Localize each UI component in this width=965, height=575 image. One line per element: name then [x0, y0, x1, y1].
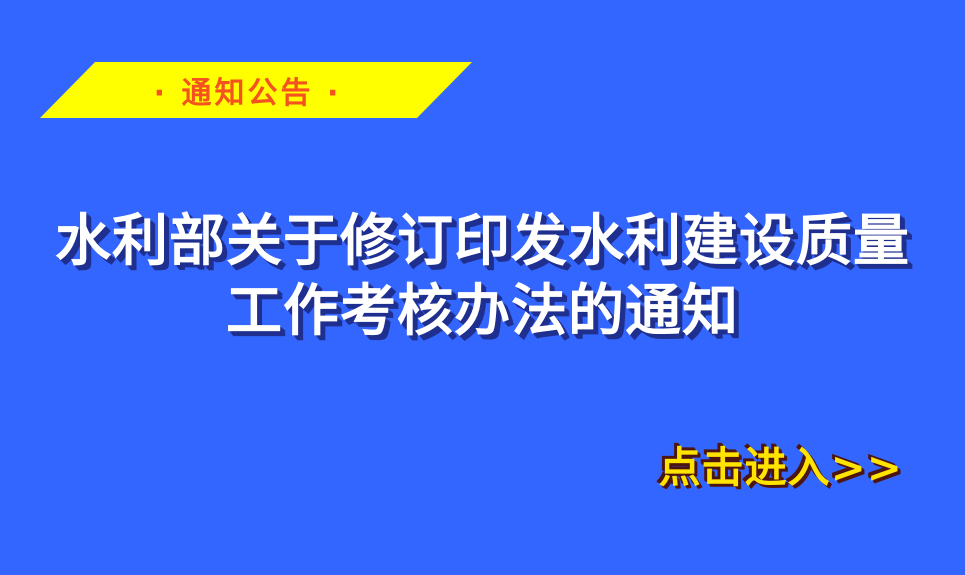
- notice-badge: · 通知公告 ·: [40, 62, 417, 118]
- notice-banner: · 通知公告 · 水利部关于修订印发水利建设质量 工作考核办法的通知 点击进入>…: [0, 0, 965, 575]
- click-to-enter-link[interactable]: 点击进入>>: [659, 434, 903, 495]
- notice-badge-label: · 通知公告 ·: [40, 62, 417, 118]
- banner-headline: 水利部关于修订印发水利建设质量 工作考核办法的通知: [0, 206, 965, 346]
- headline-line-1: 水利部关于修订印发水利建设质量: [0, 206, 965, 276]
- headline-line-2: 工作考核办法的通知: [0, 276, 965, 346]
